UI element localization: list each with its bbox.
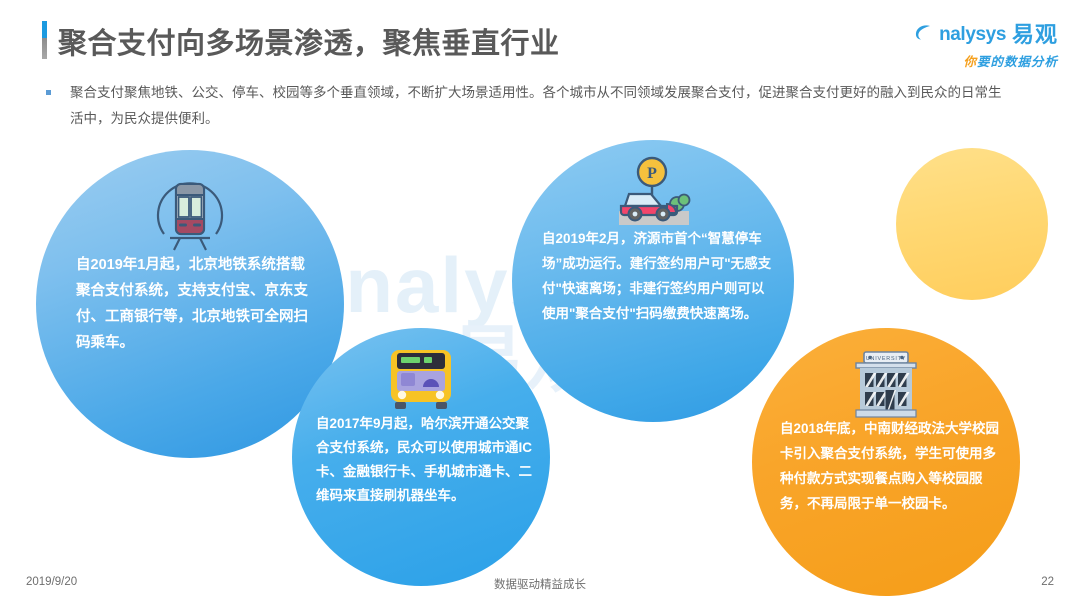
logo-primary-row: nalysys 易观: [908, 22, 1058, 47]
intro-bullet-text: 聚合支付聚焦地铁、公交、停车、校园等多个垂直领域，不断扩大场景适用性。各个城市从…: [70, 80, 1006, 132]
subway-icon-wrap: [36, 172, 344, 258]
bubble-campus-text: 自2018年底，中南财经政法大学校园卡引入聚合支付系统，学生可使用多种付款方式实…: [752, 416, 1020, 516]
parking-car-icon: P: [605, 156, 701, 234]
logo-tagline-rest: 要的数据分析: [977, 55, 1058, 69]
bubble-parking-text: 自2019年2月，济源市首个“智慧停车场”成功运行。建行签约用户可"无感支付"快…: [512, 226, 794, 326]
bubble-subway-text: 自2019年1月起，北京地铁系统搭载聚合支付系统，支持支付宝、京东支付、工商银行…: [36, 252, 344, 356]
logo-name-cn: 易观: [1012, 24, 1058, 46]
bubble-yellow-decorative: [896, 148, 1048, 300]
logo-tagline: 你要的数据分析: [908, 51, 1058, 70]
svg-text:P: P: [647, 165, 657, 182]
subway-train-icon: [144, 172, 236, 258]
footer-page-number: 22: [1041, 576, 1054, 588]
logo-tagline-accent: 你: [963, 55, 977, 69]
title-accent-bar: [42, 21, 47, 59]
campus-sign-label: UNIVERSITY: [866, 356, 906, 362]
bus-icon: [382, 346, 460, 416]
logo-name-en: nalysys: [939, 25, 1006, 44]
bubble-campus[interactable]: UNIVERSITY: [752, 328, 1020, 596]
analysys-swirl-icon: [913, 22, 933, 47]
footer: 2019/9/20 数据驱动精益成长 22: [0, 576, 1080, 596]
bubble-bus-text: 自2017年9月起，哈尔滨开通公交聚合支付系统，民众可以使用城市通IC卡、金融银…: [292, 412, 550, 508]
bubble-bus[interactable]: 自2017年9月起，哈尔滨开通公交聚合支付系统，民众可以使用城市通IC卡、金融银…: [292, 328, 550, 586]
page-title: 聚合支付向多场景渗透，聚焦垂直行业: [58, 20, 560, 62]
analysys-logo: nalysys 易观 你要的数据分析: [908, 22, 1058, 70]
intro-bullet: 聚合支付聚焦地铁、公交、停车、校园等多个垂直领域，不断扩大场景适用性。各个城市从…: [46, 80, 1006, 132]
bullet-dot-icon: [46, 90, 51, 95]
footer-slogan: 数据驱动精益成长: [0, 576, 1080, 592]
bus-icon-wrap: [292, 346, 550, 416]
parking-icon-wrap: P: [512, 156, 794, 234]
